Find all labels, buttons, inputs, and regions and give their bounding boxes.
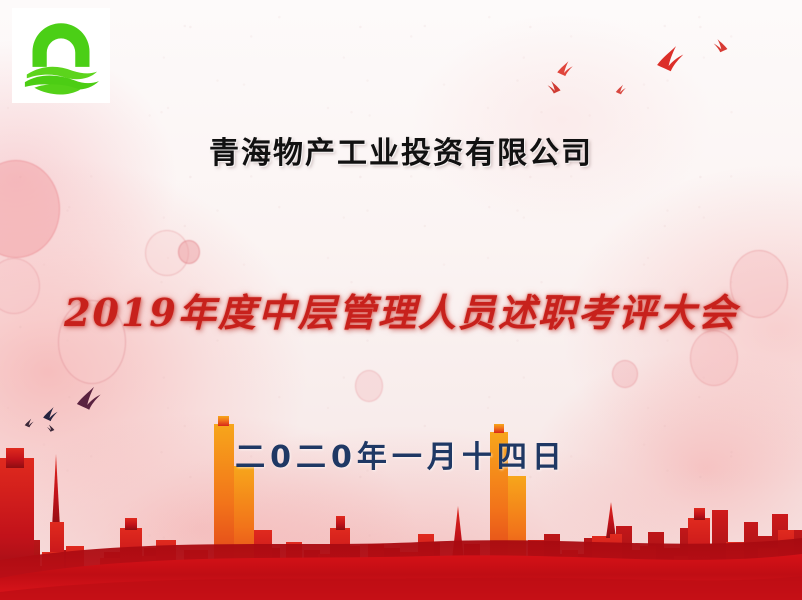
bird-red-5-icon [712, 38, 729, 55]
bird-red-3-icon [615, 84, 627, 96]
bubble-8 [612, 360, 638, 388]
slide-date: 二0二0年一月十四日 [0, 432, 802, 476]
bubble-6 [690, 330, 738, 386]
company-logo [12, 8, 110, 103]
bird-red-1-icon [556, 60, 575, 79]
bubble-7 [178, 240, 200, 264]
presentation-slide: 青海物产工业投资有限公司 2019年度中层管理人员述职考评大会 二0二0年一月十… [0, 0, 802, 600]
bubble-3 [145, 230, 189, 276]
bird-red-2-icon [546, 80, 562, 96]
bird-red-4-icon [655, 44, 687, 76]
green-arch-and-waves-icon [12, 8, 110, 103]
company-name-heading: 青海物产工业投资有限公司 [0, 128, 802, 172]
slide-main-title: 2019年度中层管理人员述职考评大会 [0, 282, 802, 337]
bubble-1 [0, 160, 60, 258]
bubble-9 [355, 370, 383, 402]
